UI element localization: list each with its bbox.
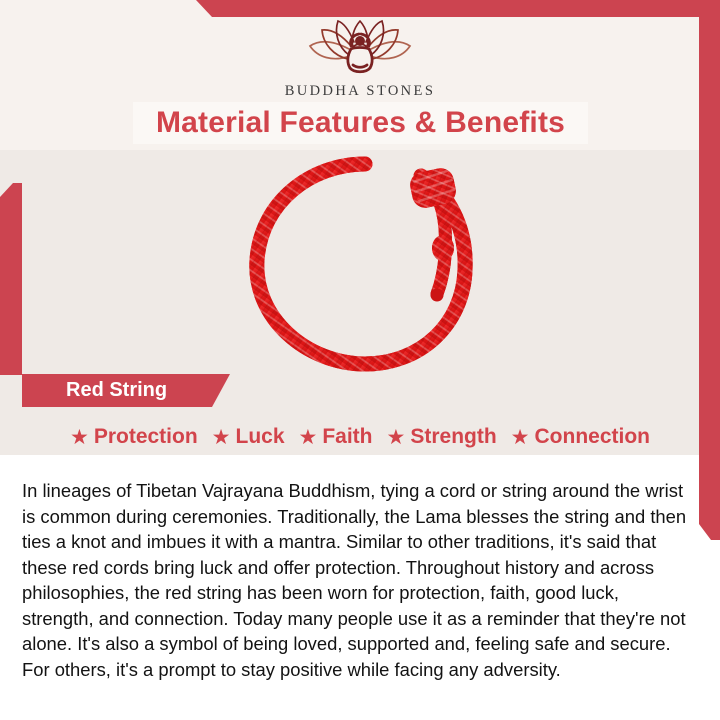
- brand-logo: BUDDHA STONES: [0, 18, 720, 100]
- benefit-label: Faith: [322, 425, 372, 449]
- benefit-item-faith: ★ Faith: [292, 425, 380, 449]
- benefit-item-luck: ★ Luck: [205, 425, 292, 449]
- star-icon: ★: [70, 427, 89, 448]
- page-title: Material Features & Benefits: [156, 106, 565, 140]
- star-icon: ★: [511, 427, 530, 448]
- brand-name: BUDDHA STONES: [285, 83, 436, 100]
- benefit-label: Protection: [94, 425, 198, 449]
- benefit-label: Connection: [535, 425, 651, 449]
- lotus-meditation-figure-icon: [301, 18, 419, 80]
- benefit-item-protection: ★ Protection: [63, 425, 205, 449]
- star-icon: ★: [212, 427, 231, 448]
- product-name-label: Red String: [66, 379, 167, 402]
- page-title-banner: Material Features & Benefits: [133, 102, 588, 144]
- benefit-item-strength: ★ Strength: [380, 425, 504, 449]
- benefit-label: Strength: [410, 425, 496, 449]
- star-icon: ★: [387, 427, 406, 448]
- benefit-item-connection: ★ Connection: [504, 425, 657, 449]
- red-braided-string-bracelet: [215, 152, 505, 374]
- benefit-label: Luck: [236, 425, 285, 449]
- decorative-left-red-bar: [0, 183, 22, 375]
- star-icon: ★: [299, 427, 318, 448]
- benefits-list: ★ Protection ★ Luck ★ Faith ★ Strength ★…: [0, 421, 720, 453]
- description-paragraph: In lineages of Tibetan Vajrayana Buddhis…: [22, 478, 694, 682]
- product-name-tag: Red String: [22, 374, 230, 407]
- infographic-page: BUDDHA STONES Material Features & Benefi…: [0, 0, 720, 720]
